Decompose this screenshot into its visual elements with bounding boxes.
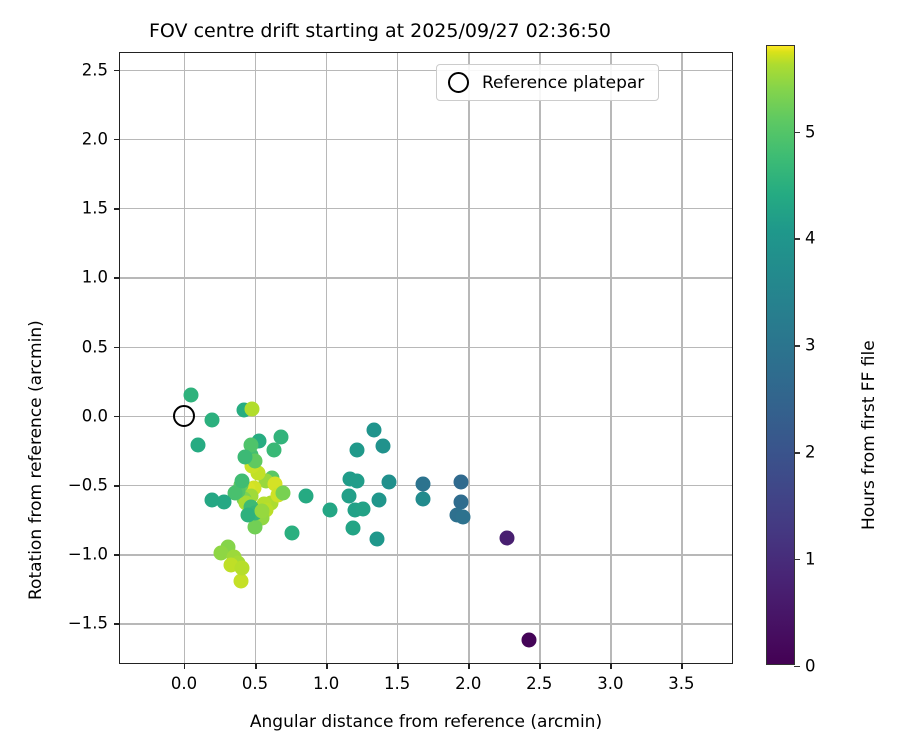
scatter-point [235,561,250,576]
x-tick [184,663,186,669]
gridline-horizontal [120,277,732,278]
scatter-point [370,532,385,547]
y-tick [114,347,120,349]
gridline-horizontal [120,554,732,555]
gridline-horizontal [120,623,732,624]
x-tick-label: 0.5 [242,674,268,693]
scatter-point [499,530,514,545]
y-tick-label: 1.5 [82,199,108,218]
gridline-vertical [468,53,469,663]
scatter-point [276,486,291,501]
legend-entry-label: Reference platepar [482,73,644,93]
colorbar-tick-label: 0 [805,657,816,676]
colorbar-tick [794,345,800,346]
scatter-point [299,489,314,504]
chart-title: FOV centre drift starting at 2025/09/27 … [0,20,760,42]
y-tick-label: 0.5 [82,337,108,356]
gridline-vertical [326,53,327,663]
x-tick [610,663,612,669]
x-axis-label: Angular distance from reference (arcmin) [119,712,733,732]
scatter-point [350,443,365,458]
y-tick [114,416,120,418]
x-tick-label: 3.0 [597,674,623,693]
scatter-point [205,412,220,427]
colorbar-tick-label: 1 [805,550,816,569]
legend-open-circle-icon [448,72,469,93]
scatter-point [191,437,206,452]
colorbar-tick [794,238,800,239]
y-tick [114,485,120,487]
colorbar-label: Hours from first FF file [859,340,879,530]
scatter-point [371,493,386,508]
y-tick [114,623,120,625]
colorbar-tick-label: 2 [805,443,816,462]
scatter-point [238,450,253,465]
gridline-horizontal [120,139,732,140]
x-tick-label: 0.0 [171,674,197,693]
scatter-point [245,401,260,416]
gridline-vertical [184,53,185,663]
y-tick-label: −1.5 [68,614,108,633]
scatter-point [522,633,537,648]
y-axis-label: Rotation from reference (arcmin) [26,320,46,600]
scatter-point [323,502,338,517]
scatter-point [367,422,382,437]
colorbar-tick [794,132,800,133]
scatter-point [454,475,469,490]
x-tick [681,663,683,669]
plot-area: 0.00.51.01.52.02.53.03.5−1.5−1.0−0.50.00… [119,52,733,664]
y-tick [114,277,120,279]
scatter-point [240,508,255,523]
gridline-horizontal [120,347,732,348]
y-tick-label: −1.0 [68,545,108,564]
scatter-point [184,388,199,403]
scatter-point [454,494,469,509]
x-tick [539,663,541,669]
legend: Reference platepar [436,64,659,101]
y-tick-label: −0.5 [68,476,108,495]
y-tick-label: 2.5 [82,60,108,79]
gridline-vertical [539,53,540,663]
gridline-horizontal [120,208,732,209]
x-tick [468,663,470,669]
gridline-vertical [397,53,398,663]
y-tick-label: 0.0 [82,406,108,425]
x-tick-label: 1.5 [384,674,410,693]
x-tick [326,663,328,669]
scatter-point [455,509,470,524]
y-tick-label: 2.0 [82,129,108,148]
scatter-point [341,489,356,504]
gridline-vertical [681,53,682,663]
reference-platepar-marker [173,405,195,427]
scatter-point [381,475,396,490]
scatter-point [284,526,299,541]
colorbar-tick [794,559,800,560]
x-tick-label: 3.5 [668,674,694,693]
y-tick [114,208,120,210]
colorbar-tick-label: 4 [805,229,816,248]
scatter-point [375,439,390,454]
x-tick-label: 2.5 [526,674,552,693]
scatter-point [255,504,270,519]
y-tick [114,70,120,72]
scatter-point [350,473,365,488]
gridline-vertical [255,53,256,663]
scatter-point [273,429,288,444]
colorbar-tick [794,666,800,667]
y-tick [114,139,120,141]
y-tick-label: 1.0 [82,268,108,287]
x-tick-label: 2.0 [455,674,481,693]
x-tick-label: 1.0 [313,674,339,693]
colorbar: 012345 [766,45,795,665]
y-tick [114,554,120,556]
x-tick [397,663,399,669]
scatter-point [415,491,430,506]
scatter-point [266,443,281,458]
chart-root: FOV centre drift starting at 2025/09/27 … [0,0,900,750]
scatter-point [346,520,361,535]
x-tick [255,663,257,669]
scatter-point [356,501,371,516]
colorbar-tick-label: 3 [805,336,816,355]
gridline-vertical [610,53,611,663]
colorbar-tick-label: 5 [805,122,816,141]
scatter-point [415,476,430,491]
scatter-point [205,493,220,508]
colorbar-tick [794,452,800,453]
scatter-point [235,473,250,488]
